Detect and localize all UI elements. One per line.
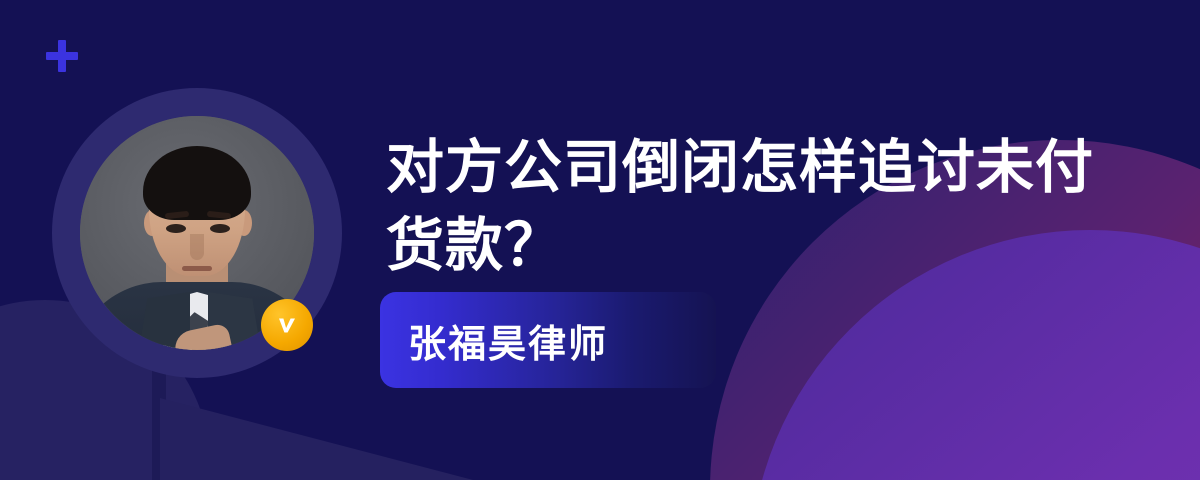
headline-block: 对方公司倒闭怎样追讨未付货款？: [386, 128, 1146, 284]
photo-eye-left: [166, 224, 186, 233]
page-title: 对方公司倒闭怎样追讨未付货款？: [386, 128, 1146, 284]
verified-v-badge-icon: [261, 299, 313, 351]
lawyer-name-button[interactable]: 张福昊律师: [380, 292, 716, 388]
lawyer-question-banner: 对方公司倒闭怎样追讨未付货款？ 张福昊律师: [0, 0, 1200, 480]
photo-nose: [190, 234, 204, 260]
plus-icon-vertical-bar: [58, 40, 66, 72]
photo-eye-right: [210, 224, 230, 233]
photo-mouth: [182, 266, 212, 271]
plus-icon: [44, 38, 80, 74]
decor-diagonal-wedge: [160, 398, 580, 480]
